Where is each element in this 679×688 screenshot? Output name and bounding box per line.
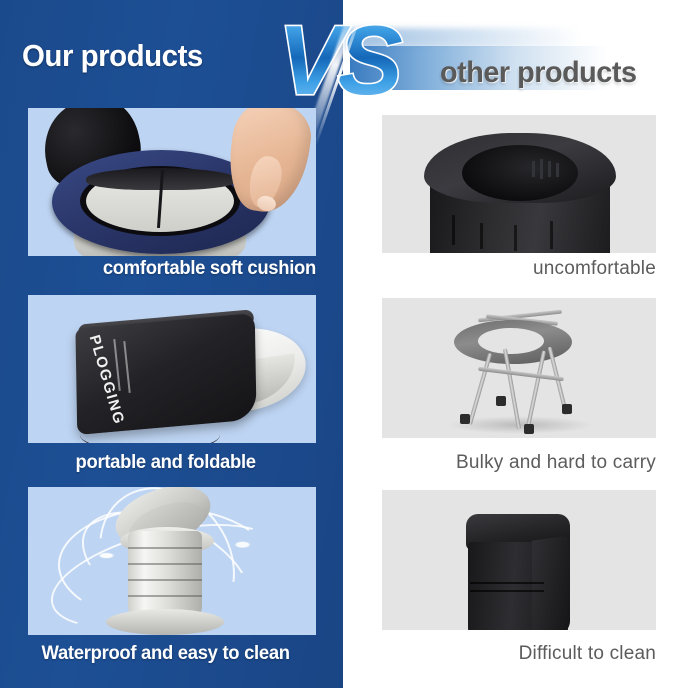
our-product-caption-2: portable and foldable xyxy=(15,452,316,474)
other-product-caption-1: uncomfortable xyxy=(374,258,656,280)
page-title-our-products: Our products xyxy=(22,38,203,74)
other-product-image-3 xyxy=(382,490,656,630)
bag-drawstring xyxy=(80,417,220,443)
commode-leg xyxy=(468,353,492,425)
black-toilet-opening xyxy=(462,145,578,201)
our-product-caption-3: Waterproof and easy to clean xyxy=(15,643,316,665)
collapsible-toilet-body xyxy=(128,531,202,619)
our-product-image-1 xyxy=(28,108,316,256)
collapsible-toilet-base xyxy=(106,609,224,635)
our-product-caption-1: comfortable soft cushion xyxy=(15,258,316,280)
page-title-other-products: other products xyxy=(440,56,636,90)
our-product-image-2: PLOGGING xyxy=(28,295,316,443)
other-product-caption-3: Difficult to clean xyxy=(374,643,656,665)
commode-seat-opening xyxy=(478,328,544,354)
other-product-image-1 xyxy=(382,115,656,253)
other-product-image-2 xyxy=(382,298,656,438)
other-product-caption-2: Bulky and hard to carry xyxy=(374,452,656,474)
comparison-infographic: Our products other products VS xyxy=(0,0,679,688)
header-glow-band xyxy=(343,28,679,48)
our-product-image-3 xyxy=(28,487,316,635)
